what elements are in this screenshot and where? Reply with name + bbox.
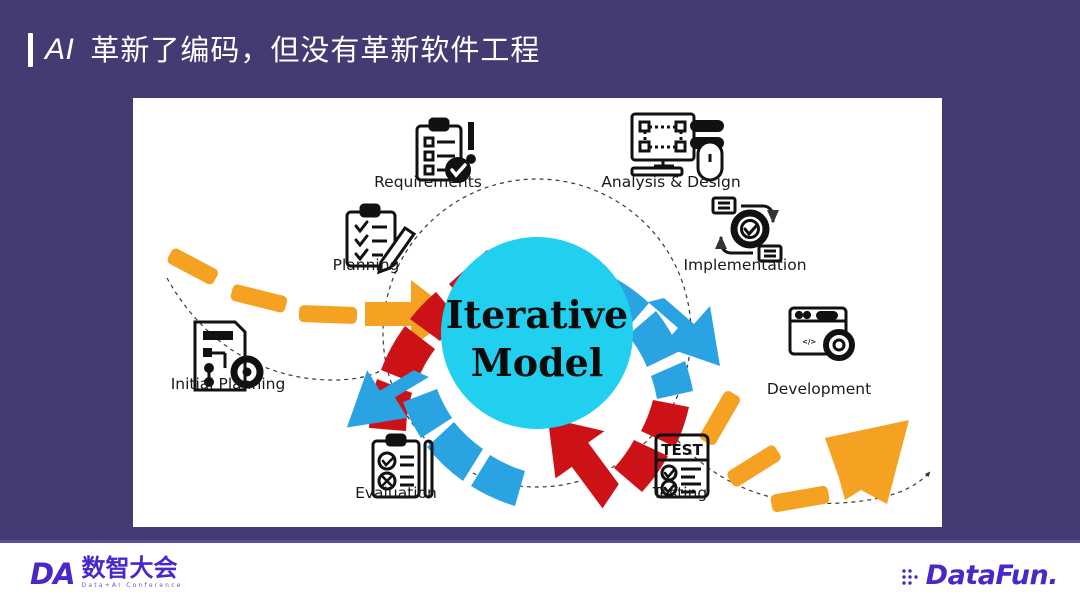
title-text: 革新了编码，但没有革新软件工程 — [90, 36, 540, 65]
logo-subtitle: Data+AI Conference — [82, 583, 183, 589]
footer-divider — [0, 540, 1080, 543]
logo-mark-da: DA — [30, 560, 75, 589]
gear-check-process-icon — [713, 198, 781, 261]
label-evaluation: Evaluation — [355, 484, 437, 502]
code-window-gear-icon: </> — [790, 308, 852, 358]
label-initial-planning: Initial Planning — [171, 375, 286, 393]
conference-logo: DA 数智大会 Data+AI Conference — [30, 556, 183, 589]
datafun-logo: DataFun. — [901, 562, 1058, 589]
figure-panel: Iterative Model Requirements — [133, 98, 942, 527]
datafun-dots-icon — [901, 565, 923, 587]
title-accent-bar — [28, 33, 33, 67]
label-testing: Testing — [652, 484, 708, 502]
datafun-wordmark: DataFun. — [926, 562, 1058, 589]
label-planning: Planning — [333, 256, 400, 274]
center-label-line2: Model — [471, 340, 604, 385]
monitor-wireframe-mouse-icon — [632, 114, 724, 180]
label-development: Development — [767, 380, 871, 398]
center-label-line1: Iterative — [446, 292, 628, 337]
label-analysis-design: Analysis & Design — [601, 173, 740, 191]
arrow-development — [698, 389, 909, 513]
logo-name-cn: 数智大会 — [82, 556, 183, 581]
iterative-model-diagram: Iterative Model Requirements — [133, 98, 942, 527]
label-requirements: Requirements — [374, 173, 482, 191]
label-implementation: Implementation — [683, 256, 806, 274]
page-title: AI 革新了编码，但没有革新软件工程 — [28, 26, 540, 74]
test-icon-glyph: TEST — [661, 441, 703, 459]
slide-root: AI 革新了编码，但没有革新软件工程 — [0, 0, 1080, 607]
code-icon-glyph: </> — [802, 338, 816, 346]
title-prefix: AI — [45, 35, 74, 65]
